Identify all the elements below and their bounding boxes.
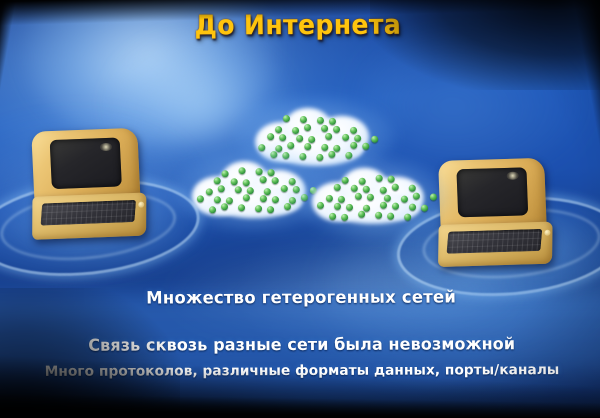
network-node <box>326 195 333 202</box>
network-node <box>346 204 353 211</box>
network-node <box>292 127 299 134</box>
network-node <box>404 214 411 221</box>
network-node <box>304 143 311 150</box>
network-node <box>350 142 357 149</box>
network-node <box>272 196 279 203</box>
network-node <box>281 185 288 192</box>
network-node <box>338 196 345 203</box>
network-node <box>268 169 275 176</box>
network-node <box>359 178 366 185</box>
network-node <box>214 196 221 203</box>
computer-screen <box>456 167 528 218</box>
network-node <box>329 118 336 125</box>
computer-base <box>438 221 553 267</box>
network-node <box>363 205 370 212</box>
network-node <box>308 136 315 143</box>
network-node <box>255 205 262 212</box>
network-node <box>243 194 250 201</box>
network-node <box>351 185 358 192</box>
network-node <box>272 177 279 184</box>
network-node <box>413 193 420 200</box>
network-node <box>384 195 391 202</box>
network-node <box>296 135 303 142</box>
network-node <box>328 151 335 158</box>
network-cloud-right <box>308 166 437 226</box>
network-node <box>401 196 408 203</box>
network-node <box>333 126 340 133</box>
computer-keyboard <box>446 228 542 253</box>
caption-line-3: Много протоколов, различные форматы данн… <box>0 362 600 380</box>
network-node <box>342 177 349 184</box>
network-node <box>238 204 245 211</box>
retro-computer-left <box>31 128 142 240</box>
network-node <box>376 175 383 182</box>
network-node <box>206 188 213 195</box>
presentation-slide: До Интернета <box>0 0 600 418</box>
network-node <box>222 170 229 177</box>
network-node <box>409 204 416 211</box>
network-node <box>226 197 233 204</box>
network-node <box>388 176 395 183</box>
network-node <box>363 186 370 193</box>
network-node <box>197 195 204 202</box>
network-node <box>317 117 324 124</box>
network-node <box>380 187 387 194</box>
network-node <box>209 206 216 213</box>
network-node <box>325 133 332 140</box>
network-node <box>267 206 274 213</box>
network-node <box>239 167 246 174</box>
network-node <box>371 136 378 143</box>
network-node <box>243 179 250 186</box>
network-node <box>221 203 228 210</box>
network-node <box>358 211 365 218</box>
network-node <box>355 193 362 200</box>
network-node <box>264 188 271 195</box>
network-node <box>392 184 399 191</box>
computer-screen <box>50 137 122 189</box>
computer-knob <box>544 230 550 236</box>
network-node <box>334 184 341 191</box>
network-node <box>367 194 374 201</box>
network-node <box>287 142 294 149</box>
caption-line-1: Множество гетерогенных сетей <box>2 287 600 309</box>
network-node <box>214 177 221 184</box>
network-node <box>300 116 307 123</box>
background-cloud-wisp <box>360 23 592 174</box>
computer-base <box>32 192 147 240</box>
network-node <box>218 185 225 192</box>
network-node <box>387 213 394 220</box>
network-node <box>421 205 428 212</box>
network-node <box>256 168 263 175</box>
network-node <box>289 178 296 185</box>
network-node <box>392 203 399 210</box>
network-node <box>342 134 349 141</box>
network-node <box>321 125 328 132</box>
network-node <box>362 143 369 150</box>
network-node <box>409 185 416 192</box>
network-node <box>284 203 291 210</box>
network-node <box>333 145 340 152</box>
network-node <box>375 212 382 219</box>
network-node <box>321 144 328 151</box>
retro-computer-right <box>438 158 548 267</box>
network-node <box>354 135 361 142</box>
computer-knob <box>138 201 144 207</box>
network-node <box>329 213 336 220</box>
network-node <box>304 124 311 131</box>
network-node <box>260 195 267 202</box>
projector-photo: До Интернета <box>0 0 600 418</box>
network-node <box>283 115 290 122</box>
network-node <box>279 134 286 141</box>
network-node <box>275 126 282 133</box>
network-node <box>380 202 387 209</box>
network-node <box>260 176 267 183</box>
network-node <box>235 186 242 193</box>
network-node <box>334 203 341 210</box>
network-node <box>430 194 437 201</box>
network-node <box>341 214 348 221</box>
network-node <box>267 133 274 140</box>
slide-title: До Интернета <box>11 9 584 42</box>
network-node <box>350 127 357 134</box>
network-node <box>317 202 324 209</box>
computer-keyboard <box>40 200 135 226</box>
caption-line-2: Связь сквозь разные сети была невозможно… <box>3 334 600 355</box>
network-node <box>231 178 238 185</box>
network-node <box>247 187 254 194</box>
